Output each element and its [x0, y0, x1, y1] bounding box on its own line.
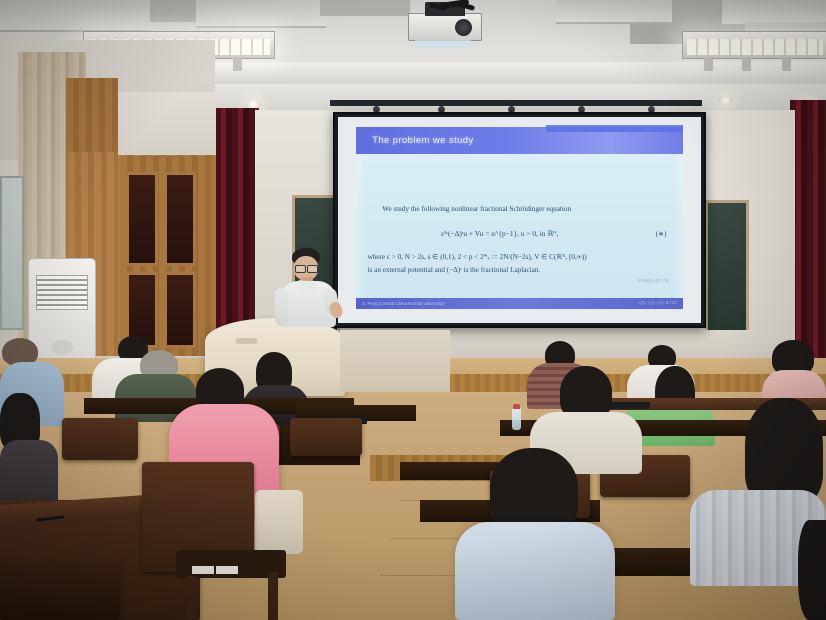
slide-body: We study the following nonlinear fractio…	[356, 154, 683, 297]
chair-label-tag	[216, 566, 238, 574]
slide-title-accent	[546, 125, 683, 132]
projection-screen: The problem we study We study the follow…	[333, 112, 706, 328]
screen-rail	[330, 100, 702, 106]
cabinet-door-panel	[164, 272, 196, 348]
glasses-icon	[295, 265, 306, 273]
ceiling-projector	[408, 13, 482, 41]
screen-surface: The problem we study We study the follow…	[338, 117, 701, 323]
wall-left-mid	[118, 92, 216, 158]
slide-footer-author: X. Feng (Central China Normal University…	[362, 301, 444, 306]
slide-footer-nav: ◁ ▷ ◁ ▷ ◁ ▷ 2 / 17	[638, 300, 677, 306]
chair	[62, 418, 138, 460]
slide-footer: X. Feng (Central China Normal University…	[356, 298, 683, 309]
slide-equation: ε²ˢ(−Δ)ˢu + Vu = u^{p−1}, u > 0, in ℝᴺ,	[441, 229, 558, 238]
presentation-slide: The problem we study We study the follow…	[356, 127, 683, 308]
cabinet-door-panel	[164, 172, 196, 266]
glasses-icon	[307, 265, 318, 273]
water-bottle	[512, 408, 521, 430]
slide-intro-text: We study the following nonlinear fractio…	[382, 205, 571, 213]
ac-logo	[51, 340, 72, 356]
podium-side-counter	[340, 330, 450, 392]
downlight-icon	[718, 96, 733, 105]
desk-front-left-lower	[0, 560, 120, 620]
air-conditioner	[28, 258, 96, 372]
lecture-hall-photo: The problem we study We study the follow…	[0, 0, 826, 620]
slide-condition-1: where ε > 0, N > 2s, s ∈ (0,1), 2 < p < …	[368, 252, 587, 261]
university-logo: 华中师范大学 CCNU	[637, 279, 669, 284]
chair-leg	[186, 576, 196, 620]
ceiling-light-right	[682, 31, 826, 59]
slide-equation-tag: (∗)	[656, 229, 667, 238]
presenter-collar	[298, 280, 316, 292]
cabinet-door-panel	[126, 172, 158, 266]
presenter-arm-left	[275, 288, 288, 326]
curtain-right	[790, 100, 826, 362]
slide-title-bar: The problem we study	[356, 127, 683, 154]
curtain-left	[215, 108, 259, 354]
chair-leg	[268, 572, 278, 620]
attendee-hair	[798, 520, 826, 620]
presenter	[262, 248, 354, 326]
slide-condition-2: is an external potential and (−Δ)ˢ is th…	[368, 266, 541, 274]
chair-label-tag	[192, 566, 214, 574]
window-left	[0, 176, 24, 330]
chair	[290, 418, 362, 456]
podium-plate	[236, 338, 257, 343]
attendee-trousers	[255, 490, 303, 554]
slide-title: The problem we study	[356, 135, 473, 146]
laptop	[610, 402, 650, 409]
attendee-pale-blue-shirt	[455, 522, 615, 620]
